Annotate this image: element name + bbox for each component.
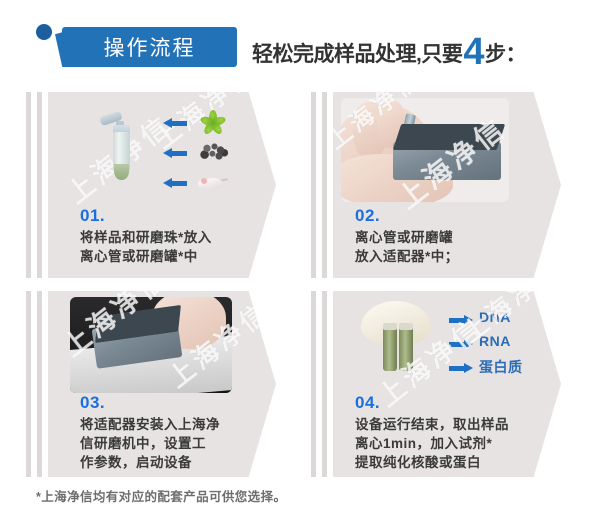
step-line: 离心管或研磨罐*中 xyxy=(80,247,212,266)
step-description: 将样品和研磨珠*放入 离心管或研磨罐*中 xyxy=(80,228,212,266)
sample-vial-image xyxy=(383,327,397,371)
tagline-text-before: 轻松完成样品处理,只要 xyxy=(252,38,462,68)
step-number: 04. xyxy=(355,393,380,413)
output-label-rna: RNA xyxy=(479,333,511,349)
header: 操作流程 轻松完成样品处理,只要 4 步： xyxy=(0,0,600,86)
step-number: 02. xyxy=(355,206,380,226)
arrow-left-icon xyxy=(163,178,187,189)
centrifuge-tube-image xyxy=(88,114,148,186)
adapter-wells-image xyxy=(393,124,505,150)
card-accent-bar xyxy=(322,92,327,278)
step-card-03: 上海净信 上海净信 03. 将适配器安装入上海净 信研磨机中，设置工 作参数，启… xyxy=(26,291,276,477)
step-line: 放入适配器*中； xyxy=(355,247,459,266)
step-description: 离心管或研磨罐 放入适配器*中； xyxy=(355,228,459,266)
card-accent-bar xyxy=(37,291,42,477)
step-line: 信研磨机中，设置工 xyxy=(80,434,220,453)
step-number: 03. xyxy=(80,393,105,413)
step-photo-04 xyxy=(359,301,437,383)
output-label-protein: 蛋白质 xyxy=(479,357,523,377)
card-accent-bar xyxy=(37,92,42,278)
step-line: 设备运行结束，取出样品 xyxy=(355,415,509,434)
mouse-ear xyxy=(201,178,207,184)
grinding-beads-icon xyxy=(198,142,228,160)
card-accent-bar xyxy=(26,92,31,278)
decorative-dot-icon xyxy=(36,24,52,40)
step-line: 将适配器安装入上海净 xyxy=(80,415,220,434)
step-line: 作参数，启动设备 xyxy=(80,453,220,472)
step-line: 提取纯化核酸或蛋白 xyxy=(355,453,509,472)
tube-liquid xyxy=(114,164,129,180)
header-tagline: 轻松完成样品处理,只要 4 步： xyxy=(252,30,526,68)
card-body: 上海净信 上海净信 03. 将适配器安装入上海净 信研磨机中，设置工 作参数，启… xyxy=(48,291,276,477)
card-accent-bar xyxy=(311,92,316,278)
step-photo-02 xyxy=(341,98,509,202)
vial-cap xyxy=(399,323,413,330)
tagline-step-count: 4 xyxy=(463,33,484,71)
arrow-left-icon xyxy=(163,148,187,159)
leaf-icon xyxy=(200,109,226,135)
arrow-right-icon xyxy=(449,363,473,374)
card-body: 上海净信 上海净信 02. 离心管或研磨罐 放入适配器*中； xyxy=(333,92,561,278)
infographic-page: 操作流程 轻松完成样品处理,只要 4 步： 上海净信 上海净信 xyxy=(0,0,600,526)
step-card-01: 上海净信 上海净信 xyxy=(26,92,276,278)
step-line: 将样品和研磨珠*放入 xyxy=(80,228,212,247)
card-accent-bar xyxy=(311,291,316,477)
step-line: 离心管或研磨罐 xyxy=(355,228,459,247)
step-card-02: 上海净信 上海净信 02. 离心管或研磨罐 放入适配器*中； xyxy=(311,92,561,278)
step-description: 设备运行结束，取出样品 离心1min，加入试剂* 提取纯化核酸或蛋白 xyxy=(355,415,509,472)
step-line: 离心1min，加入试剂* xyxy=(355,434,509,453)
card-body: DNA RNA 蛋白质 上海净信 上海净信 04. 设备运行结束，取出样品 离心… xyxy=(333,291,561,477)
output-label-dna: DNA xyxy=(479,309,511,325)
footnote: *上海净信均有对应的配套产品可供您选择。 xyxy=(36,486,286,505)
step-photo-03 xyxy=(70,297,232,393)
card-accent-bar xyxy=(26,291,31,477)
arrow-right-icon xyxy=(449,339,473,350)
step-number: 01. xyxy=(80,206,105,226)
arrow-right-icon xyxy=(449,315,473,326)
arrow-left-icon xyxy=(163,118,187,129)
step-description: 将适配器安装入上海净 信研磨机中，设置工 作参数，启动设备 xyxy=(80,415,220,472)
card-accent-bar xyxy=(322,291,327,477)
sample-vial-image xyxy=(399,327,413,371)
card-body: 上海净信 上海净信 xyxy=(48,92,276,278)
step-card-04: DNA RNA 蛋白质 上海净信 上海净信 04. 设备运行结束，取出样品 离心… xyxy=(311,291,561,477)
mouse-icon xyxy=(198,175,228,192)
vial-cap xyxy=(383,323,397,330)
tagline-text-after: 步： xyxy=(485,38,526,68)
section-banner-label: 操作流程 xyxy=(62,27,237,67)
